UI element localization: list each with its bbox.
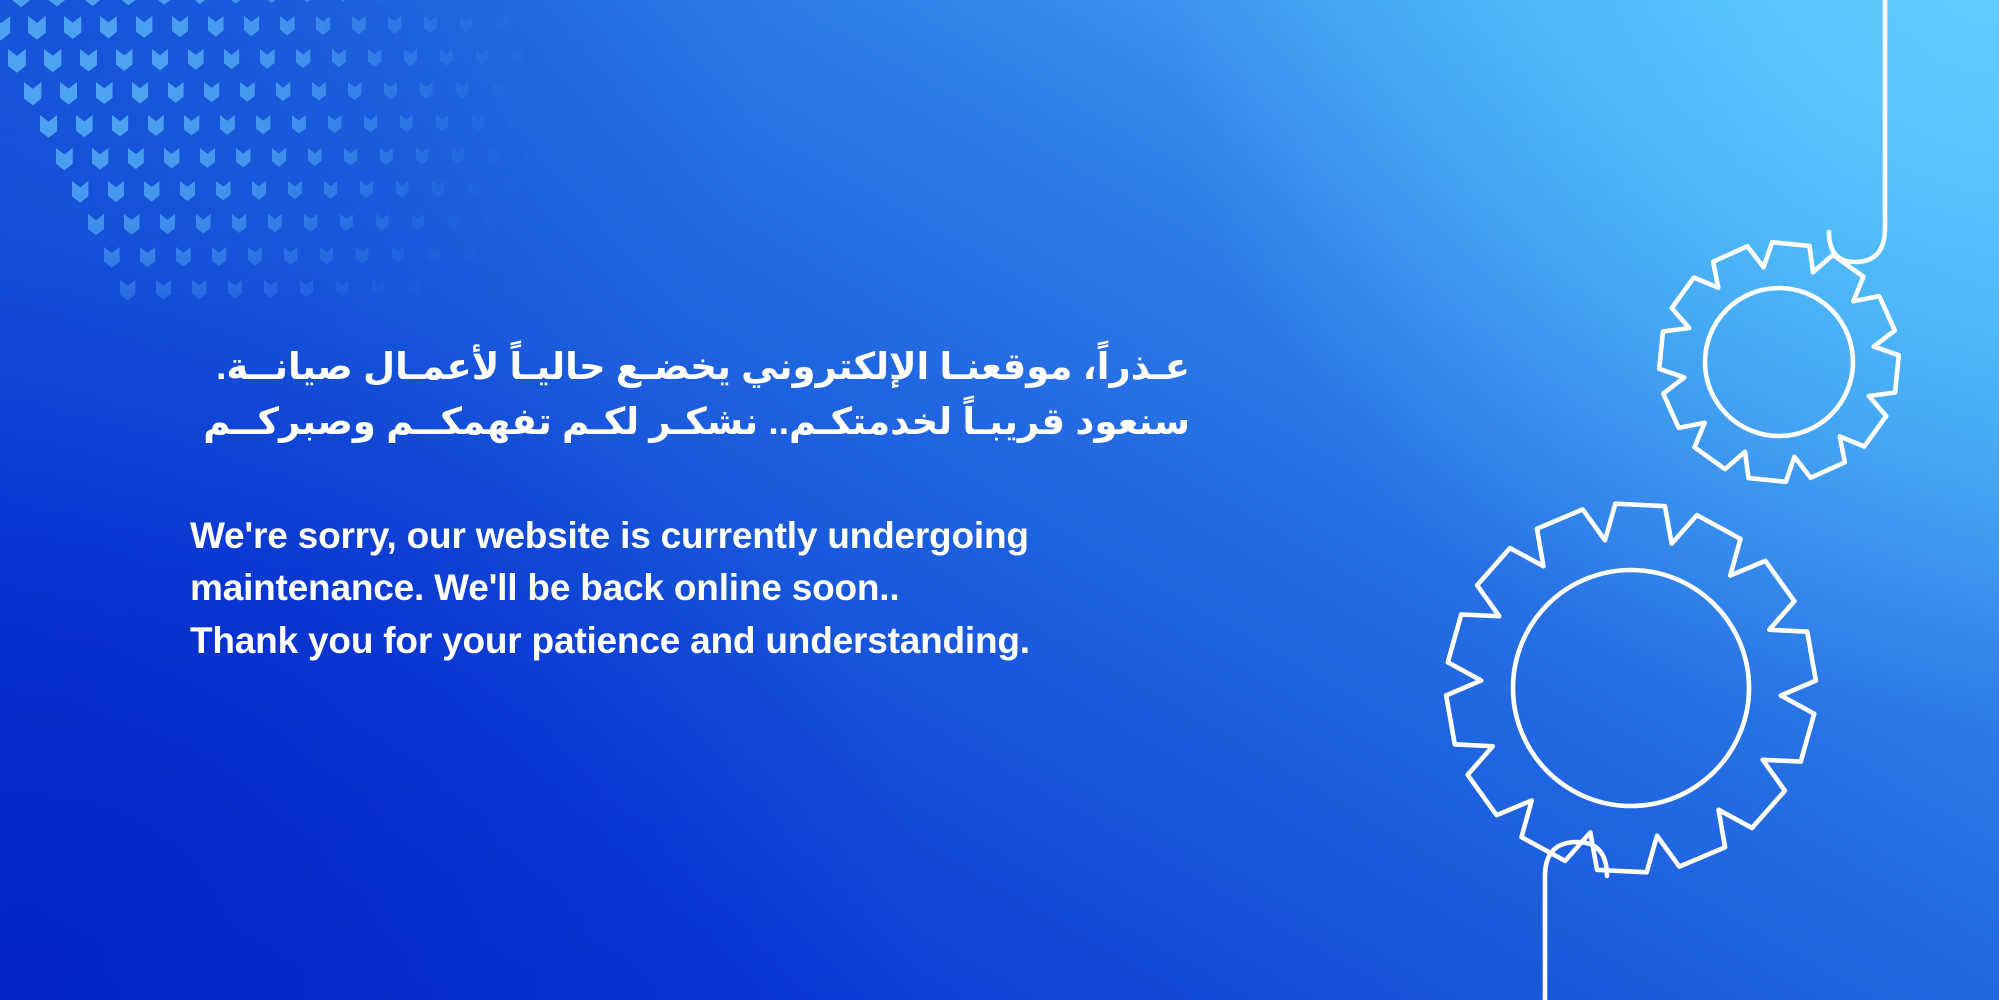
chevron-grid-pattern	[0, 0, 530, 380]
top-connector-line	[1829, 0, 1885, 262]
english-message-line-3: Thank you for your patience and understa…	[190, 615, 1190, 668]
large-gear-inner-circle	[1513, 570, 1749, 806]
gradient-highlight-top-right	[1139, 0, 1999, 760]
small-gear-inner-circle	[1705, 288, 1853, 436]
english-message-line-1: We're sorry, our website is currently un…	[190, 510, 1190, 563]
arabic-message: عـذراً، موقعنـا الإلكتروني يخضـع حاليـاً…	[190, 340, 1190, 450]
arabic-message-line-2: سنعود قريبـاً لخدمتكـم.. نشكـر لكـم تفهم…	[190, 395, 1190, 450]
bottom-connector-line	[1545, 842, 1607, 1000]
maintenance-message: عـذراً، موقعنـا الإلكتروني يخضـع حاليـاً…	[190, 340, 1190, 667]
maintenance-page: عـذراً، موقعنـا الإلكتروني يخضـع حاليـاً…	[0, 0, 1999, 1000]
gear-assembly	[1239, 0, 1999, 1000]
small-gear-icon	[1659, 242, 1899, 482]
large-gear-icon	[1446, 504, 1816, 873]
english-message: We're sorry, our website is currently un…	[190, 510, 1190, 668]
english-message-line-2: maintenance. We'll be back online soon..	[190, 562, 1190, 615]
arabic-message-line-1: عـذراً، موقعنـا الإلكتروني يخضـع حاليـاً…	[190, 340, 1190, 395]
